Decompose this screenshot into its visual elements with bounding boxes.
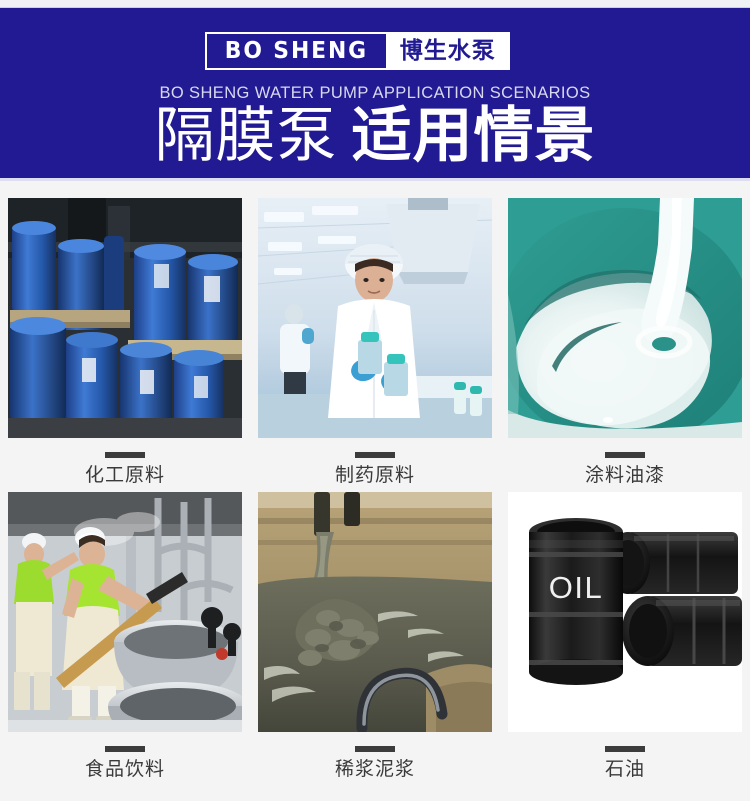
scenario-card-oil[interactable]: OIL 石油 xyxy=(508,492,742,786)
scenario-card-paint[interactable]: 涂料油漆 xyxy=(508,198,742,492)
banner-underline xyxy=(0,178,750,181)
caption-dash-icon xyxy=(605,746,645,752)
caption-dash-icon xyxy=(355,746,395,752)
caption-dash-icon xyxy=(105,746,145,752)
scenario-image-oil-drums: OIL xyxy=(508,492,742,732)
scenario-grid: 化工原料 xyxy=(8,198,742,786)
caption-dash-icon xyxy=(105,452,145,458)
oil-drum-label: OIL xyxy=(549,570,603,605)
caption-chemical: 化工原料 xyxy=(8,438,242,487)
scenario-card-chemical[interactable]: 化工原料 xyxy=(8,198,242,492)
caption-slurry: 稀浆泥浆 xyxy=(258,732,492,781)
pharmaceutical-lab-illustration xyxy=(258,198,492,438)
logo-cn-box: 博生水泵 xyxy=(388,34,508,68)
scenario-card-food[interactable]: 食品饮料 xyxy=(8,492,242,786)
caption-text-chemical: 化工原料 xyxy=(8,464,242,487)
black-oil-drums-illustration: OIL xyxy=(508,492,742,732)
banner-title-thin: 隔膜泵 xyxy=(155,101,338,171)
scenario-image-slurry-tank xyxy=(258,492,492,732)
caption-paint: 涂料油漆 xyxy=(508,438,742,487)
caption-pharmaceutical: 制药原料 xyxy=(258,438,492,487)
caption-text-paint: 涂料油漆 xyxy=(508,464,742,487)
brand-logo: BO SHENG 博生水泵 xyxy=(205,32,510,70)
teal-paint-swirl-illustration xyxy=(508,198,742,438)
banner-title: 隔膜泵适用情景 xyxy=(0,106,750,166)
banner: BO SHENG 博生水泵 BO SHENG WATER PUMP APPLIC… xyxy=(0,8,750,178)
scenario-image-pharma-lab xyxy=(258,198,492,438)
banner-title-bold: 适用情景 xyxy=(352,101,596,171)
scenario-card-pharmaceutical[interactable]: 制药原料 xyxy=(258,198,492,492)
logo-cn-text: 博生水泵 xyxy=(400,40,496,63)
logo-en-box: BO SHENG xyxy=(207,34,388,68)
caption-oil: 石油 xyxy=(508,732,742,781)
caption-text-pharmaceutical: 制药原料 xyxy=(258,464,492,487)
caption-text-food: 食品饮料 xyxy=(8,758,242,781)
logo-en-text: BO SHENG xyxy=(225,40,368,63)
caption-text-oil: 石油 xyxy=(508,758,742,781)
caption-text-slurry: 稀浆泥浆 xyxy=(258,758,492,781)
top-divider-strip xyxy=(0,0,750,8)
scenario-image-food-factory xyxy=(8,492,242,732)
application-scenarios-page: BO SHENG 博生水泵 BO SHENG WATER PUMP APPLIC… xyxy=(0,0,750,801)
scenario-image-paint-swirl xyxy=(508,198,742,438)
caption-dash-icon xyxy=(355,452,395,458)
scenario-card-slurry[interactable]: 稀浆泥浆 xyxy=(258,492,492,786)
blue-chemical-drums-illustration xyxy=(8,198,242,438)
caption-food: 食品饮料 xyxy=(8,732,242,781)
grey-slurry-illustration xyxy=(258,492,492,732)
food-beverage-factory-illustration xyxy=(8,492,242,732)
caption-dash-icon xyxy=(605,452,645,458)
scenario-image-chemical-drums xyxy=(8,198,242,438)
